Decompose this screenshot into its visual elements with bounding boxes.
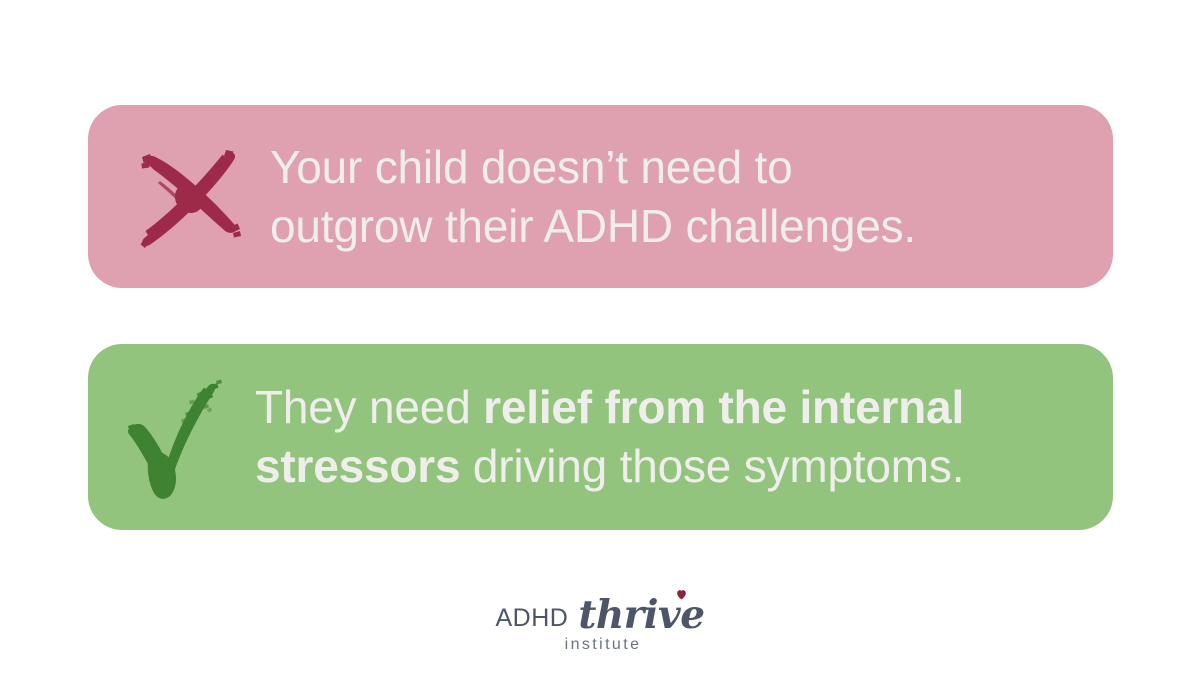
negative-statement-card: Your child doesn’t need to outgrow their…	[88, 105, 1113, 288]
heart-icon	[675, 588, 688, 601]
positive-statement-card: They need relief from the internal stres…	[88, 344, 1113, 530]
positive-line-1-regular: They need	[255, 381, 483, 433]
x-mark-brush-icon	[114, 105, 264, 288]
brand-logo-script-wrap: thrive	[578, 596, 704, 634]
positive-statement-line-1: They need relief from the internal	[255, 378, 1083, 437]
positive-line-2-emphasis: stressors	[255, 440, 460, 492]
slide-canvas: Your child doesn’t need to outgrow their…	[0, 0, 1200, 700]
negative-statement-line-2: outgrow their ADHD challenges.	[270, 197, 1073, 256]
brand-logo-prefix: ADHD	[495, 604, 568, 632]
brand-logo: ADHD thrive institute	[0, 596, 1200, 654]
negative-statement-line-1: Your child doesn’t need to	[270, 138, 1073, 197]
positive-line-1-emphasis: relief from the internal	[483, 381, 964, 433]
positive-statement-text: They need relief from the internal stres…	[255, 378, 1113, 496]
checkmark-brush-icon	[100, 344, 250, 530]
brand-logo-suffix: institute	[559, 636, 642, 654]
brand-logo-wordmark: ADHD thrive	[495, 596, 704, 634]
negative-statement-text: Your child doesn’t need to outgrow their…	[270, 138, 1113, 256]
positive-statement-line-2: stressors driving those symptoms.	[255, 437, 1083, 496]
positive-line-2-regular: driving those symptoms.	[460, 440, 964, 492]
brand-logo-script: thrive	[578, 596, 704, 634]
